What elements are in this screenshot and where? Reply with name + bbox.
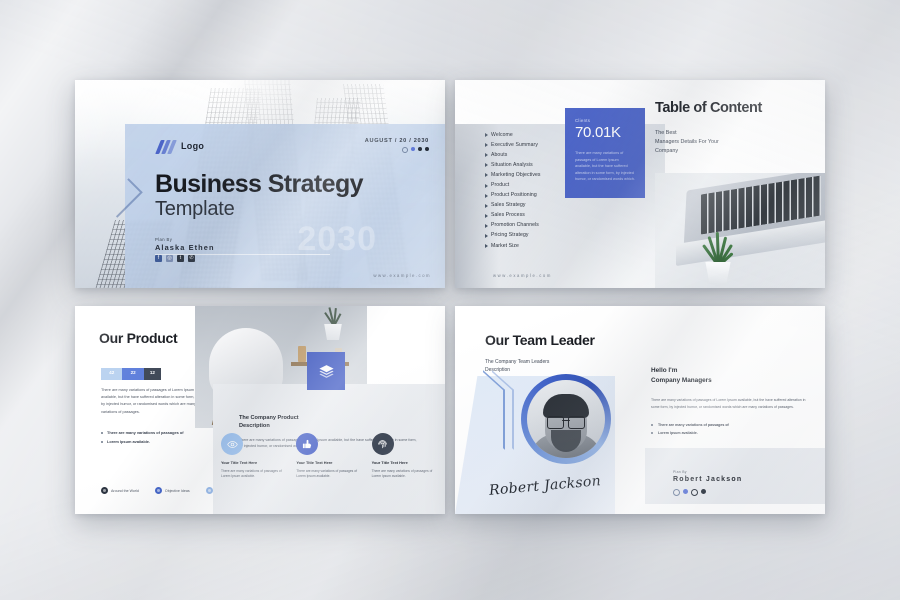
clients-stat-card: Clients 70.01K There are many variations… xyxy=(565,108,645,198)
stat-bar-3: 12 xyxy=(144,368,161,380)
fingerprint-icon xyxy=(372,433,394,455)
stat-bar-2-value: 22 xyxy=(122,370,143,375)
slide-table-of-content[interactable]: WelcomeExecutive SummaryAboutsSituation … xyxy=(455,80,825,288)
feature-text: There are many variations of passages of… xyxy=(296,469,363,481)
plant-decoration-icon xyxy=(321,306,347,326)
slide4-text-block: Hello I'm Company Managers There are man… xyxy=(651,366,813,439)
slide4-footer-card: Plan By Robert Jackson xyxy=(645,448,825,504)
slide1-title: Business Strategy xyxy=(155,172,363,197)
feature-row: Your Title Text Here There are many vari… xyxy=(221,433,439,480)
slide-title[interactable]: Logo AUGUST / 20 / 2030 2030 Business St… xyxy=(75,80,445,288)
feature-title: Your Title Text Here xyxy=(296,460,363,466)
layers-stack-icon xyxy=(307,352,345,390)
slide-our-product[interactable]: Our Product 42 22 12 There are many vari… xyxy=(75,306,445,514)
slide1-title-block: Business Strategy Template xyxy=(155,172,363,219)
legend-label: Around the World xyxy=(111,489,139,493)
slide4-heading-block: Our Team Leader xyxy=(485,332,595,348)
feature-title: Your Title Text Here xyxy=(372,460,439,466)
table-of-content-item[interactable]: Sales Process xyxy=(485,212,595,218)
feature-card[interactable]: Your Title Text Here There are many vari… xyxy=(296,433,363,480)
avatar xyxy=(521,374,611,464)
slide2-heading: Table of Content xyxy=(655,100,762,116)
slide-our-team-leader[interactable]: Our Team Leader The Company Team Leaders… xyxy=(455,306,825,514)
slide1-logo[interactable]: Logo xyxy=(158,140,204,152)
slide4-dot-indicators[interactable] xyxy=(673,489,825,496)
stat-bar-2: 22 xyxy=(122,368,143,380)
stat-bar-1-value: 42 xyxy=(101,370,122,375)
slide3-body-text: There are many variations of passages of… xyxy=(101,387,198,416)
legend-item: Around the World xyxy=(101,487,139,494)
triple-slash-logo-icon xyxy=(158,140,174,152)
slide3-bullet-list: There are many variations of passages of… xyxy=(101,430,206,448)
stat-bar-group: 42 22 12 xyxy=(101,368,161,380)
table-of-content-item[interactable]: Promotion Channels xyxy=(485,222,595,228)
slide1-url[interactable]: www.example.com xyxy=(373,273,431,278)
legend-dot xyxy=(206,487,213,494)
slide1-subtitle: Template xyxy=(155,199,363,219)
chevron-right-icon xyxy=(483,380,517,446)
slide3-heading: Our Product xyxy=(99,330,177,346)
slide1-by-label: Plan By xyxy=(155,237,215,242)
feature-title: Your Title Text Here xyxy=(221,460,288,466)
legend-item: Objective Ideas xyxy=(155,487,190,494)
slide1-author-name: Alaska Ethen xyxy=(155,243,215,252)
slide4-by-label: Plan By xyxy=(673,470,825,474)
thumbs-up-icon xyxy=(296,433,318,455)
legend-dot xyxy=(101,487,108,494)
slide4-heading: Our Team Leader xyxy=(485,332,595,348)
feature-card[interactable]: Your Title Text Here There are many vari… xyxy=(372,433,439,480)
feature-card[interactable]: Your Title Text Here There are many vari… xyxy=(221,433,288,480)
stat-value: 70.01K xyxy=(575,124,645,141)
slide2-url[interactable]: www.example.com xyxy=(493,273,552,278)
slide1-date: AUGUST / 20 / 2030 xyxy=(365,138,429,144)
list-item[interactable]: Lorem Ipsum available. xyxy=(101,439,206,444)
table-of-content-item[interactable]: Sales Strategy xyxy=(485,202,595,208)
facebook-icon[interactable]: f xyxy=(155,255,162,262)
stat-bar-3-value: 12 xyxy=(144,370,161,375)
legend-dot xyxy=(155,487,162,494)
twitter-icon[interactable]: t xyxy=(177,255,184,262)
list-item[interactable]: Lorem Ipsum available. xyxy=(651,431,813,435)
feature-text: There are many variations of passages of… xyxy=(221,469,288,481)
stat-bar-1: 42 xyxy=(101,368,122,380)
whatsapp-icon[interactable]: ✆ xyxy=(188,255,195,262)
card-title: The Company Product Description xyxy=(239,414,445,431)
slide4-body: There are many variations of passages of… xyxy=(651,397,813,412)
slide4-author-name: Robert Jackson xyxy=(673,476,825,483)
slide1-dot-indicators[interactable] xyxy=(365,147,429,153)
slide2-heading-block: Table of Content xyxy=(655,100,762,116)
stat-label: Clients xyxy=(575,118,645,123)
plant-decoration-icon xyxy=(699,226,739,266)
slide4-greeting: Hello I'm Company Managers xyxy=(651,366,813,386)
table-of-content-item[interactable]: Pricing Strategy xyxy=(485,232,595,238)
slide1-date-block: AUGUST / 20 / 2030 xyxy=(365,138,429,153)
slide1-social-icons[interactable]: f ◎ t ✆ xyxy=(155,255,215,262)
eye-icon xyxy=(221,433,243,455)
slide2-laptop-photo xyxy=(655,173,825,288)
slide1-author-block: Plan By Alaska Ethen f ◎ t ✆ xyxy=(155,237,215,262)
slide3-heading-block: Our Product xyxy=(99,330,177,346)
list-item[interactable]: There are many variations of passages of xyxy=(651,423,813,427)
slide2-subheading: The Best Managers Details For Your Compa… xyxy=(655,129,719,155)
feature-text: There are many variations of passages of… xyxy=(372,469,439,481)
slide4-bullet-list: There are many variations of passages of… xyxy=(651,423,813,435)
list-item[interactable]: There are many variations of passages of xyxy=(101,430,206,435)
legend-label: Objective Ideas xyxy=(165,489,190,493)
stat-description: There are many variations of passages of… xyxy=(575,150,635,183)
instagram-icon[interactable]: ◎ xyxy=(166,255,173,262)
table-of-content-item[interactable]: Market Size xyxy=(485,243,595,249)
logo-label: Logo xyxy=(181,141,204,151)
